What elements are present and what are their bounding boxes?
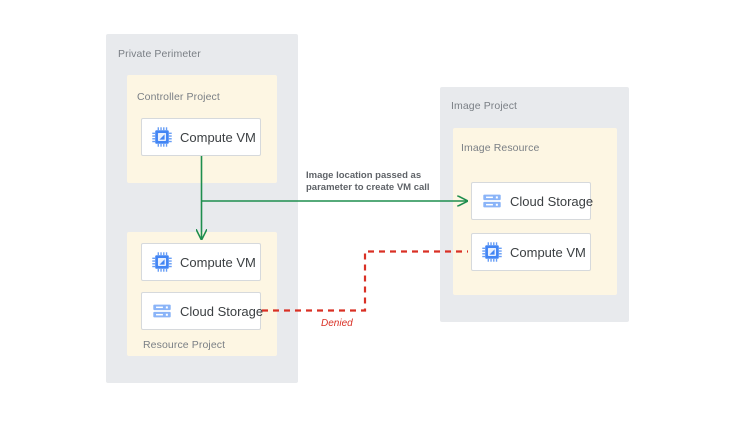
cloud-storage-icon xyxy=(151,300,173,322)
card-image-compute-vm[interactable]: Compute VM xyxy=(471,233,591,271)
compute-vm-icon xyxy=(481,241,503,263)
image-project-label: Image Project xyxy=(451,100,517,112)
image-resource-label: Image Resource xyxy=(461,142,539,154)
cloud-storage-icon xyxy=(481,190,503,212)
card-controller-compute-vm[interactable]: Compute VM xyxy=(141,118,261,156)
compute-vm-icon xyxy=(151,126,173,148)
allowed-edge-label-line2: parameter to create VM call xyxy=(306,182,430,193)
compute-vm-icon xyxy=(151,251,173,273)
card-resource-cloud-storage[interactable]: Cloud Storage xyxy=(141,292,261,330)
private-perimeter-label: Private Perimeter xyxy=(118,48,201,60)
card-label: Compute VM xyxy=(180,130,256,145)
card-label: Compute VM xyxy=(180,255,256,270)
card-image-cloud-storage[interactable]: Cloud Storage xyxy=(471,182,591,220)
card-label: Cloud Storage xyxy=(510,194,593,209)
card-label: Compute VM xyxy=(510,245,586,260)
diagram-canvas: Private Perimeter Controller Project xyxy=(0,0,736,421)
card-label: Cloud Storage xyxy=(180,304,263,319)
denied-edge-label: Denied xyxy=(321,318,353,329)
allowed-edge-label-line1: Image location passed as xyxy=(306,170,421,181)
controller-project-label: Controller Project xyxy=(137,91,220,103)
resource-project-label: Resource Project xyxy=(143,339,225,351)
allowed-edge-label: Image location passed as parameter to cr… xyxy=(306,170,430,194)
card-resource-compute-vm[interactable]: Compute VM xyxy=(141,243,261,281)
